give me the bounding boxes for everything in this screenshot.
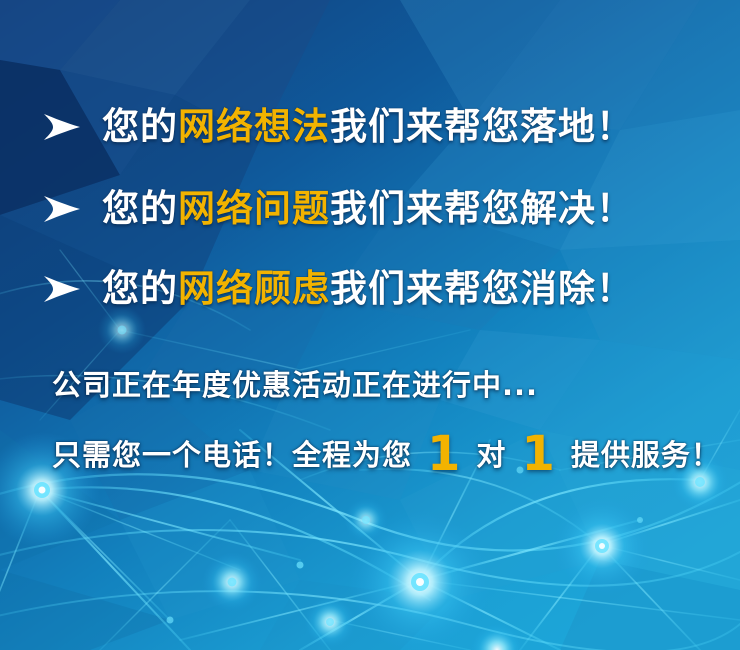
service-number-second: 1 xyxy=(516,426,560,482)
bullet-row-1: 您的网络想法我们来帮您落地！ xyxy=(42,104,634,150)
headline-3-prefix: 您的 xyxy=(102,267,178,310)
promo-subline: 公司正在年度优惠活动正在进行中... xyxy=(52,362,538,404)
service-suffix: 提供服务！ xyxy=(571,438,721,472)
headline-2-prefix: 您的 xyxy=(102,187,178,230)
headline-2-suffix: 我们来帮您解决！ xyxy=(330,187,634,230)
arrow-right-icon xyxy=(42,192,82,226)
arrow-right-icon xyxy=(42,110,82,144)
headline-3-suffix: 我们来帮您消除！ xyxy=(330,267,634,310)
headline-2: 您的网络问题我们来帮您解决！ xyxy=(102,186,634,232)
service-number-first: 1 xyxy=(422,426,466,482)
headline-1-prefix: 您的 xyxy=(102,105,178,148)
promo-banner: 您的网络想法我们来帮您落地！ 您的网络问题我们来帮您解决！ 您的网络顾虑我们来帮… xyxy=(0,0,740,650)
service-prefix: 只需您一个电话！全程为您 xyxy=(52,438,412,472)
headline-3-highlight: 网络顾虑 xyxy=(178,267,330,310)
headline-1: 您的网络想法我们来帮您落地！ xyxy=(102,104,634,150)
arrow-right-icon xyxy=(42,272,82,306)
headline-1-suffix: 我们来帮您落地！ xyxy=(330,105,634,148)
headline-3: 您的网络顾虑我们来帮您消除！ xyxy=(102,266,634,312)
headline-1-highlight: 网络想法 xyxy=(178,105,330,148)
bullet-row-2: 您的网络问题我们来帮您解决！ xyxy=(42,186,634,232)
bullet-row-3: 您的网络顾虑我们来帮您消除！ xyxy=(42,266,634,312)
service-middle: 对 xyxy=(476,438,506,472)
service-subline: 只需您一个电话！全程为您1对1提供服务！ xyxy=(52,432,721,474)
headline-2-highlight: 网络问题 xyxy=(178,187,330,230)
banner-content: 您的网络想法我们来帮您落地！ 您的网络问题我们来帮您解决！ 您的网络顾虑我们来帮… xyxy=(0,0,740,650)
